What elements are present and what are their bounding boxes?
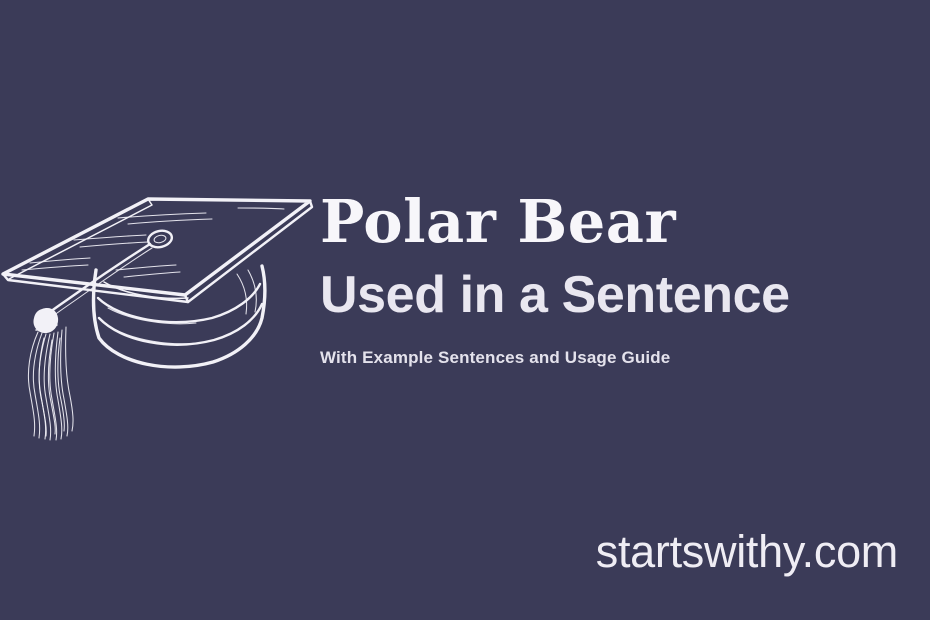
poster-canvas: Polar Bear Used in a Sentence With Examp… bbox=[0, 0, 930, 620]
cap-crown-group bbox=[94, 266, 265, 367]
brand-domain: startswithy.com bbox=[596, 524, 898, 580]
hero-text-block: Polar Bear Used in a Sentence With Examp… bbox=[320, 186, 900, 370]
tassel-strands bbox=[28, 308, 73, 440]
button-knot bbox=[147, 229, 174, 250]
mortarboard-group bbox=[3, 199, 312, 302]
tassel-cord bbox=[50, 244, 152, 316]
page-title-headline: Used in a Sentence bbox=[320, 264, 900, 326]
page-subtitle-tagline: With Example Sentences and Usage Guide bbox=[320, 346, 900, 370]
graduation-cap-illustration bbox=[0, 178, 330, 448]
page-title-headword: Polar Bear bbox=[320, 186, 900, 258]
